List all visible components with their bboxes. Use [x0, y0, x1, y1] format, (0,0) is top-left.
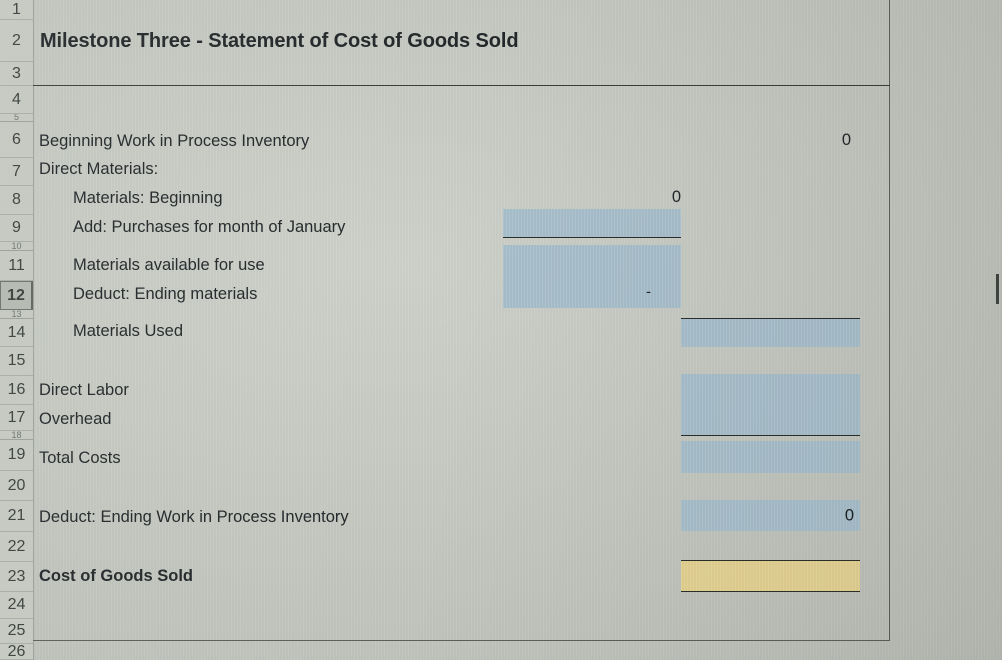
row-header-7[interactable]: 7	[0, 158, 33, 186]
label-materials-used: Materials Used	[73, 323, 183, 340]
label-direct-materials-header: Direct Materials:	[39, 161, 158, 178]
row-header-3[interactable]: 3	[0, 62, 33, 86]
row-header-24[interactable]: 24	[0, 592, 33, 619]
row-header-22[interactable]: 22	[0, 532, 33, 562]
output-cell-cost-of-goods-sold[interactable]	[681, 560, 860, 592]
row-header-10[interactable]: 10	[0, 242, 33, 251]
spreadsheet-screenshot: 1 2 3 4 5 6 7 8 9 10 11 12 13 14 15 16 1…	[0, 0, 1002, 660]
worksheet-area[interactable]: Milestone Three - Statement of Cost of G…	[33, 0, 890, 641]
label-add-purchases: Add: Purchases for month of January	[73, 219, 345, 236]
label-materials-beginning: Materials: Beginning	[73, 190, 223, 207]
label-overhead: Overhead	[39, 411, 111, 428]
page-title: Milestone Three - Statement of Cost of G…	[40, 31, 518, 51]
label-deduct-ending-materials: Deduct: Ending materials	[73, 286, 257, 303]
row-header-15[interactable]: 15	[0, 347, 33, 376]
row-header-4[interactable]: 4	[0, 86, 33, 114]
value-beginning-wip[interactable]: 0	[823, 132, 851, 149]
row-header-13[interactable]: 13	[0, 310, 33, 319]
row-header-2[interactable]: 2	[0, 20, 33, 62]
value-ending-wip: 0	[845, 506, 854, 525]
row-header-5[interactable]: 5	[0, 114, 33, 122]
input-cell-materials-used[interactable]	[681, 318, 860, 347]
input-cell-ending-materials[interactable]: -	[503, 276, 681, 308]
label-deduct-ending-wip: Deduct: Ending Work in Process Inventory	[39, 509, 349, 526]
row-header-6[interactable]: 6	[0, 122, 33, 158]
row-header-1[interactable]: 1	[0, 0, 33, 20]
label-beginning-wip: Beginning Work in Process Inventory	[39, 133, 309, 150]
row-header-16[interactable]: 16	[0, 376, 33, 405]
label-materials-available: Materials available for use	[73, 257, 265, 274]
label-total-costs: Total Costs	[39, 450, 121, 467]
row-header-18[interactable]: 18	[0, 431, 33, 440]
input-cell-total-costs[interactable]	[681, 441, 860, 473]
input-cell-ending-wip[interactable]: 0	[681, 500, 860, 531]
label-direct-labor: Direct Labor	[39, 382, 129, 399]
row-header-25[interactable]: 25	[0, 619, 33, 644]
row-header-26[interactable]: 26	[0, 644, 33, 660]
row-header-17[interactable]: 17	[0, 405, 33, 431]
row-header-21[interactable]: 21	[0, 501, 33, 532]
row-header-20[interactable]: 20	[0, 471, 33, 501]
title-underline	[33, 85, 890, 86]
row-header-23[interactable]: 23	[0, 562, 33, 592]
row-header-14[interactable]: 14	[0, 319, 33, 347]
row-header-19[interactable]: 19	[0, 440, 33, 471]
row-header-9[interactable]: 9	[0, 215, 33, 242]
row-header-8[interactable]: 8	[0, 186, 33, 215]
row-header-gutter: 1 2 3 4 5 6 7 8 9 10 11 12 13 14 15 16 1…	[0, 0, 34, 660]
input-cell-labor-overhead[interactable]	[681, 374, 860, 436]
scrollbar-edge-sliver[interactable]	[996, 274, 999, 304]
input-cell-purchases[interactable]	[503, 209, 681, 238]
row-header-11[interactable]: 11	[0, 251, 33, 281]
input-cell-materials-available[interactable]	[503, 245, 681, 276]
label-cost-of-goods-sold: Cost of Goods Sold	[39, 568, 193, 585]
value-materials-beginning[interactable]: 0	[647, 189, 681, 206]
row-header-12[interactable]: 12	[0, 281, 33, 310]
value-ending-materials: -	[646, 284, 651, 301]
